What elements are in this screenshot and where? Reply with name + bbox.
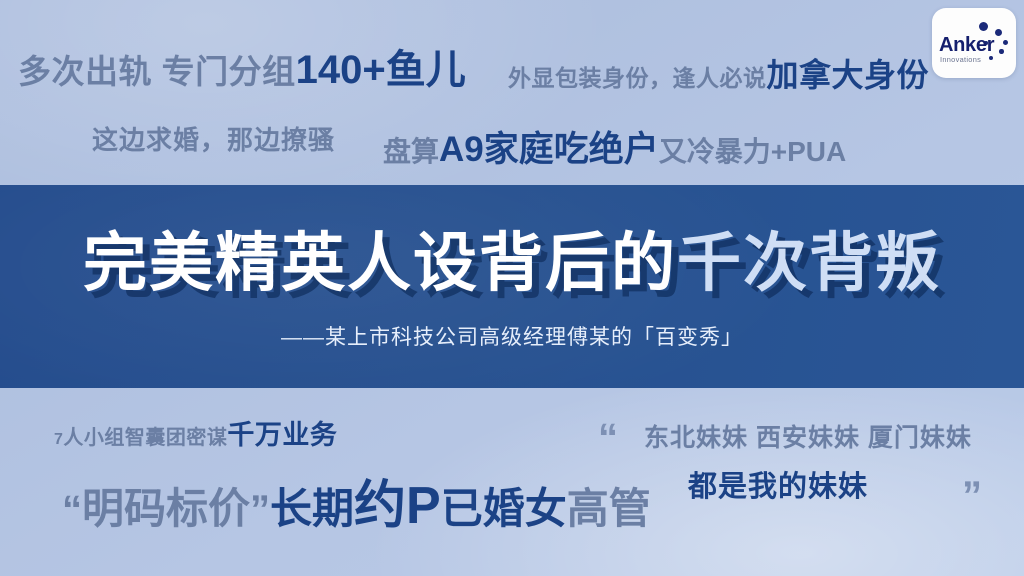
- bottom-left-line-1-muted: 人小组智囊团密谋: [63, 427, 227, 449]
- bottom-right-line-1: 东北妹妹 西安妹妹 厦门妹妹: [644, 426, 972, 451]
- bottom-left-line-2-strong-a: 长期: [270, 485, 354, 532]
- bottom-left-line-2-strong-c: 已婚女: [441, 485, 567, 532]
- top-left-line-2: 这边求婚，那边撩骚: [92, 127, 335, 153]
- main-headline-white: 完美精英人设背后的: [83, 227, 677, 299]
- bottom-left-line-2-strong-b: 约P: [354, 477, 441, 535]
- top-right-line-2-prefix: 盘算: [383, 136, 439, 167]
- bottom-left-line-1-strong: 千万业务: [227, 420, 337, 450]
- bottom-right-quote-close: ”: [962, 476, 982, 516]
- top-right-line-1-muted: 外显包装身份，逢人必说: [508, 65, 767, 91]
- top-left-line-1-muted: 多次出轨 专门分组: [18, 53, 296, 90]
- bottom-left-line-1: 7人小组智囊团密谋千万业务: [54, 422, 337, 449]
- headline-subtitle: ——某上市科技公司高级经理傅某的「百变秀」: [0, 321, 1024, 351]
- headline-band: 完美精英人设背后的千次背叛 ——某上市科技公司高级经理傅某的「百变秀」: [0, 185, 1024, 388]
- top-right-line-1: 外显包装身份，逢人必说加拿大身份: [508, 59, 929, 91]
- bottom-left-line-1-number: 7: [54, 431, 63, 448]
- top-right-line-2-suffix: 又冷暴力+PUA: [659, 136, 846, 167]
- bottom-left-quote-open: “: [62, 488, 82, 532]
- bottom-left-line-2: “明码标价”长期约P已婚女高管: [62, 480, 651, 532]
- top-left-line-1: 多次出轨 专门分组140+鱼儿: [18, 50, 466, 90]
- bottom-left-quote-close: ”: [250, 488, 270, 532]
- top-right-line-2-strong: A9家庭吃绝户: [439, 130, 659, 169]
- bottom-right-line-2: 都是我的妹妹: [688, 473, 868, 502]
- bottom-left-line-2-muted-a: 明码标价: [82, 485, 250, 532]
- logo-tagline: Innovations: [940, 55, 981, 64]
- top-right-line-1-strong: 加拿大身份: [767, 57, 930, 93]
- logo-wordmark: Anker: [939, 34, 994, 57]
- poster-canvas: 多次出轨 专门分组140+鱼儿 这边求婚，那边撩骚 外显包装身份，逢人必说加拿大…: [0, 0, 1024, 576]
- main-headline: 完美精英人设背后的千次背叛: [0, 231, 1024, 295]
- top-right-line-2: 盘算A9家庭吃绝户又冷暴力+PUA: [383, 132, 846, 167]
- top-left-line-1-strong: 140+鱼儿: [296, 48, 466, 92]
- bottom-right-quote-open: “: [598, 418, 618, 458]
- bottom-left-line-2-muted-b: 高管: [567, 485, 651, 532]
- main-headline-pale: 千次背叛: [677, 227, 941, 299]
- anker-innovations-logo[interactable]: Anker Innovations: [932, 8, 1016, 78]
